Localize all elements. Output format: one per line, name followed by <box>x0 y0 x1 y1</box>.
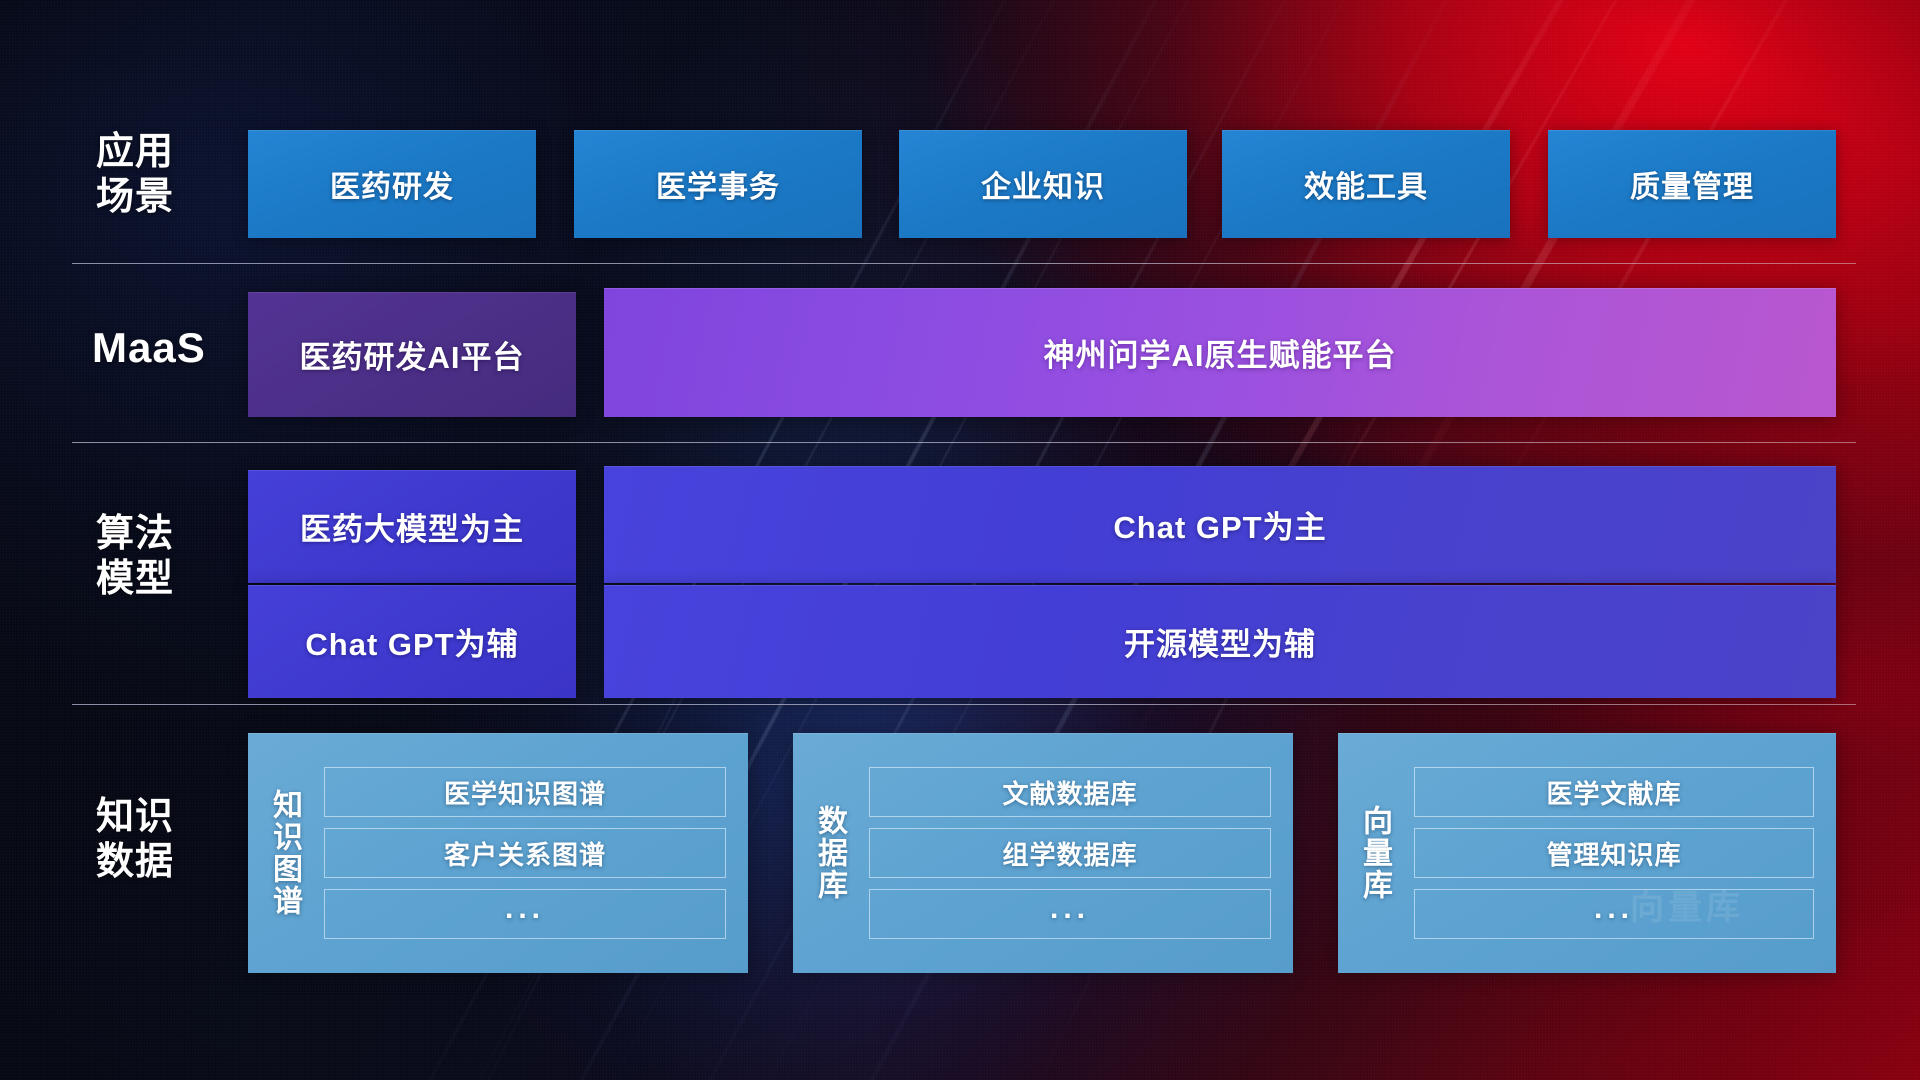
knowledge-group-graph[interactable]: 知识图谱 医学知识图谱 客户关系图谱 ... <box>248 733 748 973</box>
knowledge-group-database[interactable]: 数据库 文献数据库 组学数据库 ... <box>793 733 1293 973</box>
divider-algorithm-knowledge <box>72 704 1856 705</box>
knowledge-item-medical-literature[interactable]: 医学文献库 <box>1414 767 1814 817</box>
maas-enablement-platform-box[interactable]: 神州问学AI原生赋能平台 <box>604 288 1836 417</box>
divider-application-maas <box>72 263 1856 264</box>
knowledge-item-medical-graph[interactable]: 医学知识图谱 <box>324 767 726 817</box>
divider-maas-algorithm <box>72 442 1856 443</box>
algo-box-primary-left[interactable]: 医药大模型为主 <box>248 470 576 583</box>
app-box-2[interactable]: 医学事务 <box>574 130 862 238</box>
row-label-maas: MaaS <box>92 325 252 370</box>
app-box-3[interactable]: 企业知识 <box>899 130 1187 238</box>
knowledge-item-omics-db[interactable]: 组学数据库 <box>869 828 1271 878</box>
knowledge-group-database-title: 数据库 <box>793 733 865 973</box>
app-box-1[interactable]: 医药研发 <box>248 130 536 238</box>
row-label-application: 应用 场景 <box>96 130 236 220</box>
knowledge-item-vector-more[interactable]: ... <box>1414 889 1814 939</box>
algo-box-secondary-left[interactable]: Chat GPT为辅 <box>248 585 576 698</box>
slide-canvas: 应用 场景 医药研发 医学事务 企业知识 效能工具 质量管理 MaaS 医药研发… <box>0 0 1920 1080</box>
maas-platform-box[interactable]: 医药研发AI平台 <box>248 292 576 417</box>
algo-box-primary-right[interactable]: Chat GPT为主 <box>604 466 1836 583</box>
app-box-5[interactable]: 质量管理 <box>1548 130 1836 238</box>
row-label-knowledge: 知识 数据 <box>96 795 236 885</box>
knowledge-item-literature-db[interactable]: 文献数据库 <box>869 767 1271 817</box>
knowledge-item-database-more[interactable]: ... <box>869 889 1271 939</box>
knowledge-item-management-knowledge[interactable]: 管理知识库 <box>1414 828 1814 878</box>
knowledge-item-customer-graph[interactable]: 客户关系图谱 <box>324 828 726 878</box>
knowledge-group-vector[interactable]: 向量库 医学文献库 管理知识库 ... <box>1338 733 1836 973</box>
knowledge-group-graph-title: 知识图谱 <box>248 733 320 973</box>
algo-box-secondary-right[interactable]: 开源模型为辅 <box>604 585 1836 698</box>
app-box-4[interactable]: 效能工具 <box>1222 130 1510 238</box>
knowledge-group-vector-title: 向量库 <box>1338 733 1410 973</box>
knowledge-item-graph-more[interactable]: ... <box>324 889 726 939</box>
row-label-algorithm: 算法 模型 <box>96 512 236 602</box>
